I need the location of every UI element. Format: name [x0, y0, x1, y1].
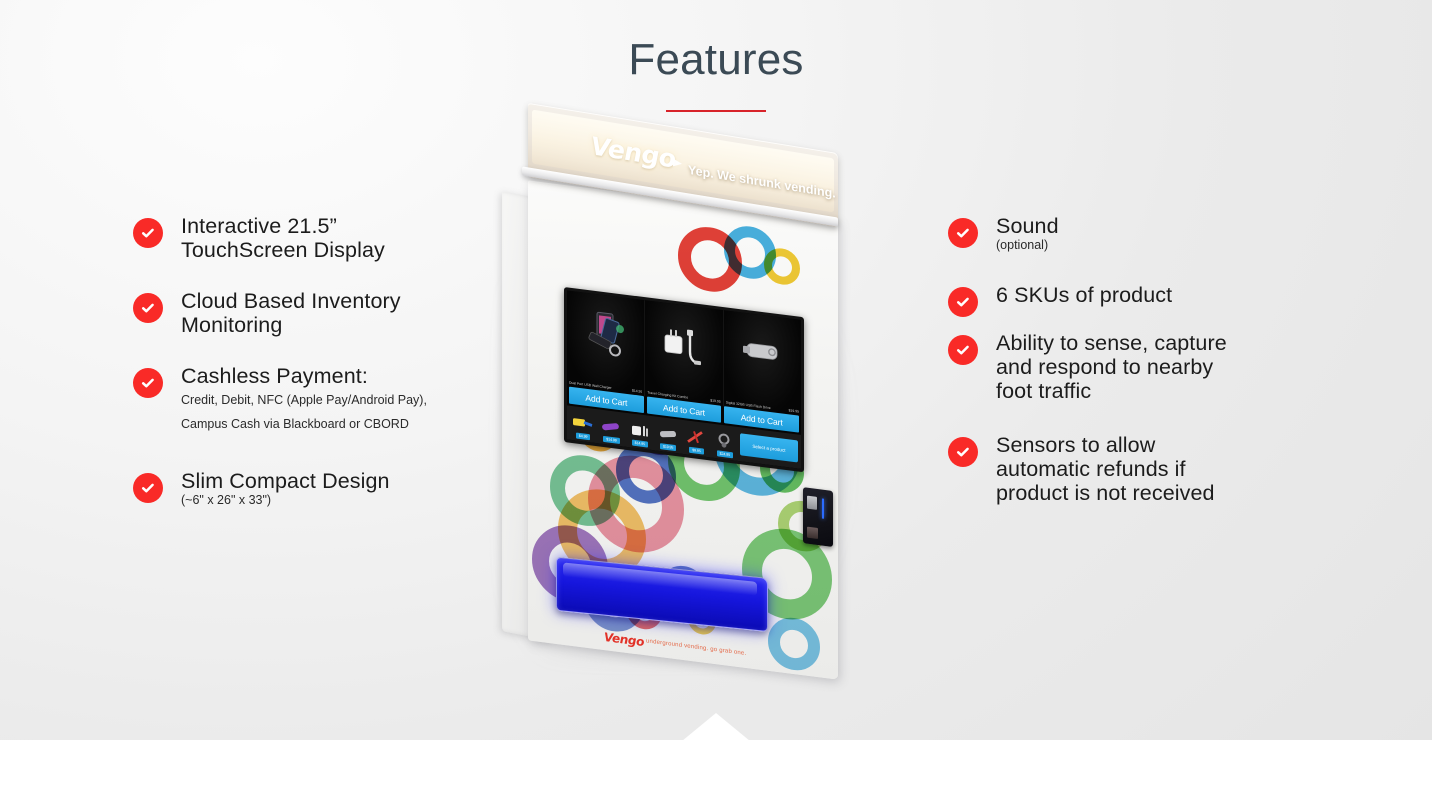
feature-title: 6 SKUs of product	[996, 283, 1248, 307]
product-price: $19.95	[789, 408, 799, 413]
feature-title: Slim Compact Design	[181, 469, 433, 493]
feature-title: Ability to sense, capture and respond to…	[996, 331, 1248, 403]
wall-adapter-cable-icon	[657, 318, 711, 373]
product-thumbnail[interactable]: $24.95	[712, 426, 738, 459]
select-a-product-button[interactable]: Select a product	[740, 433, 798, 462]
reader-led-indicator	[822, 499, 824, 519]
product-thumbnail[interactable]: $19.95	[655, 418, 681, 451]
feature-title: Sound	[996, 214, 1248, 238]
thumbnail-price: $4.99	[576, 432, 591, 440]
feature-item: Sensors to allow automatic refunds if pr…	[948, 433, 1248, 505]
slide-canvas: Features Interactive 21.5” TouchScreen D…	[0, 0, 1432, 740]
feature-title: Cashless Payment:	[181, 364, 433, 388]
check-circle-icon	[948, 437, 978, 467]
yellow-cable-icon	[571, 413, 595, 434]
red-cable-icon	[684, 427, 708, 448]
feature-item: 6 SKUs of product	[948, 283, 1248, 307]
feature-item: Ability to sense, capture and respond to…	[948, 331, 1248, 403]
feature-item: Sound (optional)	[948, 214, 1248, 252]
product-thumbnail[interactable]: $9.95	[683, 422, 709, 455]
vending-machine-image: Dual Port USB Wall Charger $14.95	[488, 128, 858, 658]
feature-subtext: Credit, Debit, NFC (Apple Pay/Android Pa…	[181, 389, 433, 435]
purple-battery-icon	[599, 416, 623, 437]
wall-charger-icon	[628, 420, 652, 441]
reader-keypad[interactable]	[807, 527, 818, 539]
product-price: $14.95	[632, 389, 642, 394]
earbuds-icon	[713, 431, 737, 452]
product-cell[interactable]: Dual Port USB Wall Charger $14.95	[567, 290, 645, 396]
vengo-logo-text: Vengo	[591, 131, 675, 174]
feature-item: Cashless Payment: Credit, Debit, NFC (Ap…	[133, 364, 433, 435]
page-title: Features	[0, 36, 1432, 84]
product-price: $19.95	[710, 398, 720, 403]
product-thumbnail[interactable]: $14.99	[598, 411, 624, 444]
feature-item: Interactive 21.5” TouchScreen Display	[133, 214, 433, 262]
feature-title: Sensors to allow automatic refunds if pr…	[996, 433, 1248, 505]
thumbnail-price: $19.95	[660, 443, 676, 451]
check-circle-icon	[133, 473, 163, 503]
vengo-logo: Vengo	[591, 131, 682, 175]
feature-column-right: Sound (optional) 6 SKUs of product Abili…	[948, 214, 1248, 506]
card-reader-panel[interactable]	[803, 487, 833, 547]
check-circle-icon	[948, 335, 978, 365]
check-circle-icon	[133, 293, 163, 323]
topper-tagline: Yep. We shrunk vending.	[688, 163, 836, 201]
feature-item: Slim Compact Design (~6" x 26" x 33")	[133, 469, 433, 507]
check-circle-icon	[948, 218, 978, 248]
thumbnail-price: $9.95	[689, 447, 704, 455]
phone-charger-icon	[579, 308, 633, 363]
feature-title: Cloud Based Inventory Monitoring	[181, 289, 433, 337]
product-cell[interactable]: Travel Charging Kit Combo $19.95	[645, 300, 723, 406]
check-circle-icon	[948, 287, 978, 317]
check-circle-icon	[133, 368, 163, 398]
title-block: Features	[0, 36, 1432, 112]
feature-item: Cloud Based Inventory Monitoring	[133, 289, 433, 337]
thumbnail-price: $24.95	[717, 450, 733, 458]
touchscreen-display[interactable]: Dual Port USB Wall Charger $14.95	[564, 287, 804, 472]
feature-subtext: (~6" x 26" x 33")	[181, 494, 433, 507]
machine-front-face: Dual Port USB Wall Charger $14.95	[528, 180, 838, 679]
check-circle-icon	[133, 218, 163, 248]
bottom-arrow-notch	[682, 713, 750, 741]
title-underline-rule	[666, 110, 766, 112]
product-cell[interactable]: Digital 32GB USB Flash Drive $19.95	[724, 310, 801, 416]
card-slot[interactable]	[807, 496, 817, 510]
flash-drive-icon	[656, 424, 680, 445]
feature-subtext: (optional)	[996, 239, 1248, 252]
feature-title: Interactive 21.5” TouchScreen Display	[181, 214, 433, 262]
product-thumbnail[interactable]: $4.99	[570, 408, 596, 441]
feature-column-left: Interactive 21.5” TouchScreen Display Cl…	[133, 214, 433, 506]
usb-flash-drive-icon	[735, 328, 789, 383]
vengo-logo-arrow-icon	[673, 158, 682, 167]
product-thumbnail[interactable]: $14.95	[627, 415, 653, 448]
thumbnail-price: $14.95	[632, 440, 648, 448]
bottom-white-strip	[0, 740, 1432, 797]
thumbnail-price: $14.99	[603, 436, 619, 444]
